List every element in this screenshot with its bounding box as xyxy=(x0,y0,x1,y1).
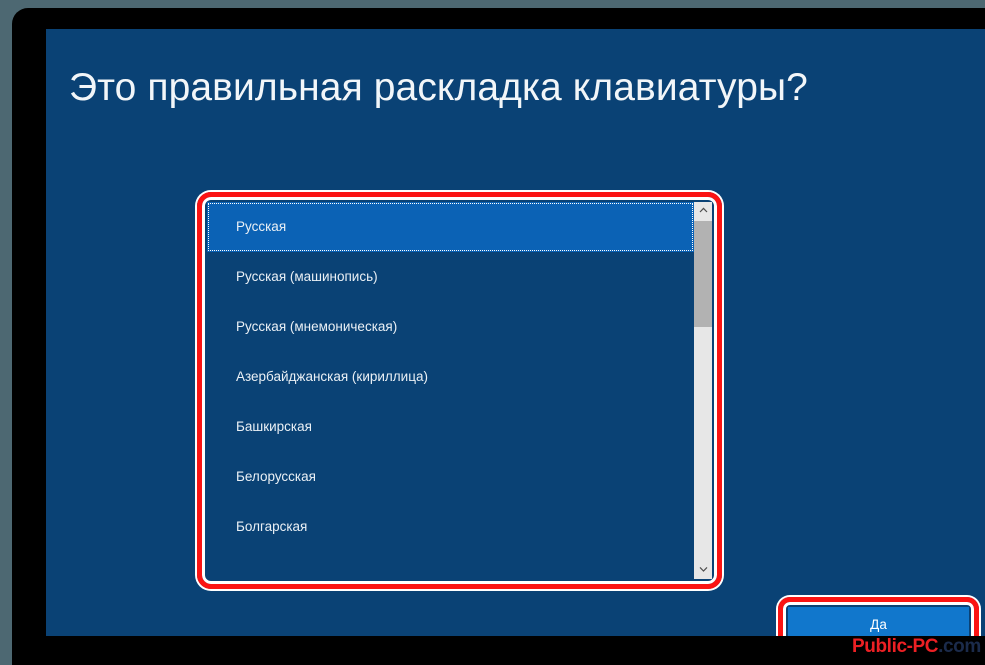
page-title: Это правильная раскладка клавиатуры? xyxy=(69,66,929,110)
annotation-box-yes-button xyxy=(778,597,979,636)
annotation-box-list xyxy=(197,192,722,589)
watermark: Public-PC.com xyxy=(852,636,981,658)
windows-setup-screen: Это правильная раскладка клавиатуры? Рус… xyxy=(46,29,985,636)
watermark-tld: .com xyxy=(938,636,981,657)
watermark-name: Public-PC xyxy=(852,636,938,657)
display-frame: Это правильная раскладка клавиатуры? Рус… xyxy=(12,8,985,665)
